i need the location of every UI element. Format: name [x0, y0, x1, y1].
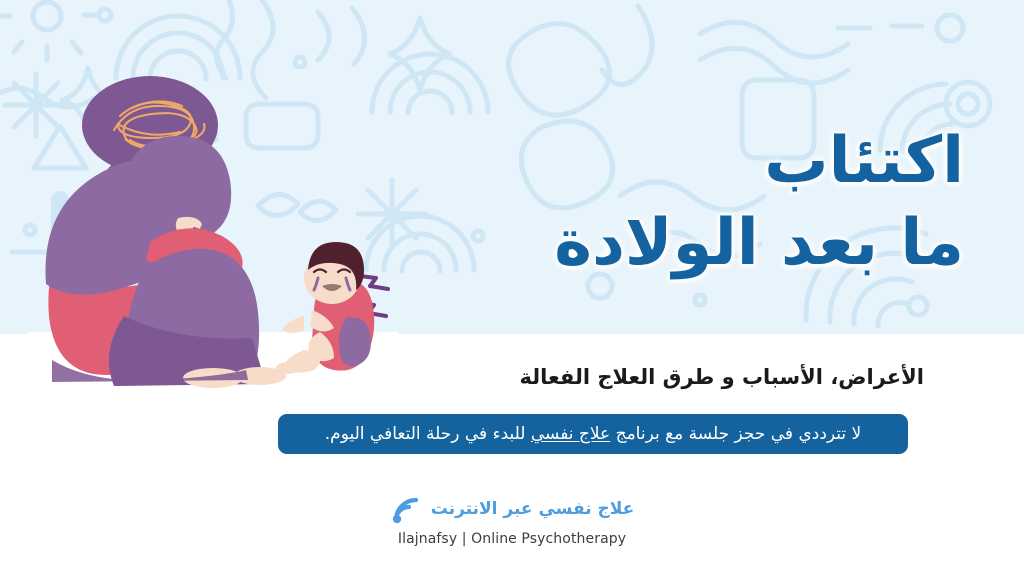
cta-link-text[interactable]: علاج نفسي — [531, 424, 610, 444]
cta-banner[interactable]: لا تترددي في حجز جلسة مع برنامج علاج نفس… — [278, 414, 908, 454]
banner-canvas: اكتئاب ما بعد الولادة الأعراض، الأسباب و… — [0, 0, 1024, 576]
subtitle-text: الأعراض، الأسباب و طرق العلاج الفعالة — [104, 364, 924, 391]
cta-text-before: لا تترددي في حجز جلسة مع برنامج — [610, 424, 861, 444]
page-title: اكتئاب ما بعد الولادة — [344, 121, 964, 285]
logo-primary-row: علاج نفسي عبر الانترنت — [390, 494, 635, 524]
sad-mother-and-crying-baby-illustration — [28, 70, 398, 400]
logo-arabic-name: علاج نفسي عبر الانترنت — [431, 501, 635, 518]
wifi-signal-icon — [390, 494, 422, 524]
logo-english-name: Ilajnafsy | Online Psychotherapy — [398, 531, 626, 547]
brand-logo[interactable]: علاج نفسي عبر الانترنت Ilajnafsy | Onlin… — [0, 494, 1024, 547]
mother-figure — [45, 136, 286, 388]
cta-text-after: للبدء في رحلة التعافي اليوم. — [325, 424, 531, 444]
cta-banner-text: لا تترددي في حجز جلسة مع برنامج علاج نفس… — [325, 426, 861, 443]
